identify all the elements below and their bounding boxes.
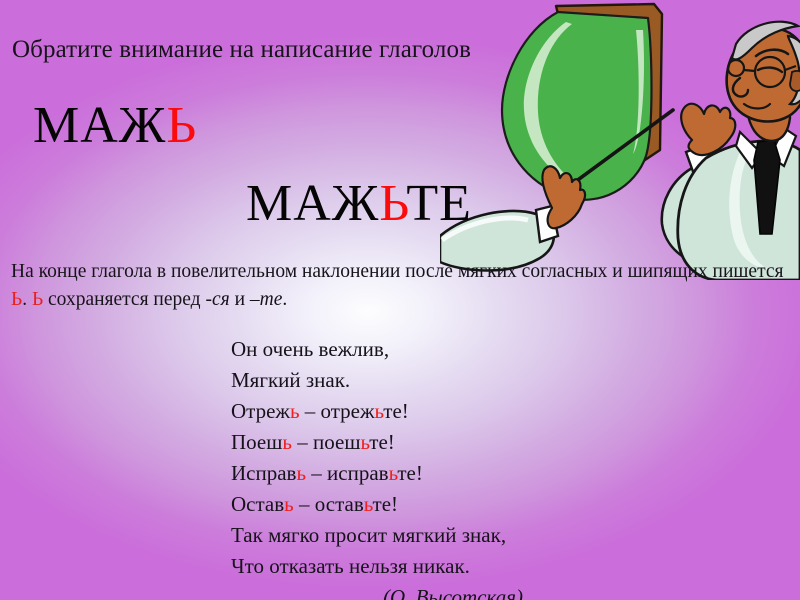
slide-canvas: Обратите внимание на написание глаголов … [0,0,800,600]
soft-sign-highlight: ь [375,399,384,423]
word-stem: МАЖ [33,97,166,154]
rule-part-3: сохраняется перед [43,289,205,310]
necktie [754,140,780,234]
poem-line: Он очень вежлив, [231,334,523,365]
soft-sign-highlight: ь [282,430,292,454]
right-sleeve [662,162,800,270]
soft-sign-capital-1: Ь [11,289,22,310]
line-text: те! [397,461,423,485]
rule-part-4: и [230,289,250,310]
soft-sign-highlight: ь [290,399,300,423]
left-hand [542,166,585,228]
line-text: Что отказать нельзя никак. [231,554,470,578]
line-text: – остав [294,492,364,516]
rule-part-5: . [282,289,287,310]
line-text: Остав [231,492,284,516]
hair [732,22,798,60]
poem-line: Оставь – оставьте! [231,489,523,520]
line-text: те! [369,430,395,454]
line-text: – исправ [306,461,389,485]
line-text: Отреж [231,399,290,423]
example-word-mazh: МАЖЬ [33,100,197,152]
chalkboard-icon [502,4,662,200]
poem-line: Так мягко просит мягкий знак, [231,520,523,551]
line-text: те! [373,492,399,516]
poem-author: (О. Высотская) [231,582,523,600]
soft-sign-highlight: Ь [379,175,406,232]
line-text: Он очень вежлив, [231,337,389,361]
right-hand [681,104,735,155]
poem-line: Отрежь – отрежьте! [231,396,523,427]
poem-block: Он очень вежлив, Мягкий знак. Отрежь – о… [231,334,523,600]
line-text: те! [383,399,409,423]
spelling-rule-text: На конце глагола в повелительном наклоне… [11,258,789,313]
line-text: Так мягко просит мягкий знак, [231,523,506,547]
poem-line: Исправь – исправьте! [231,458,523,489]
soft-sign-capital-2: Ь [32,289,43,310]
teacher-illustration [440,0,800,280]
line-text: – отреж [300,399,375,423]
line-text: Мягкий знак. [231,368,350,392]
line-text: Поеш [231,430,282,454]
rule-italic-sya: -ся [205,289,229,310]
rule-part-1: На конце глагола в повелительном наклоне… [11,261,783,282]
line-text: – поеш [292,430,361,454]
word-suffix: ТЕ [406,175,472,232]
rule-italic-te: –те [250,289,283,310]
poem-line: Мягкий знак. [231,365,523,396]
eyeglasses-icon [728,57,796,87]
soft-sign-highlight: ь [296,461,306,485]
line-text: Исправ [231,461,296,485]
page-title: Обратите внимание на написание глаголов [12,36,471,64]
soft-sign-highlight: ь [284,492,294,516]
example-word-mazhte: МАЖЬТЕ [246,178,472,230]
head [727,29,800,122]
rule-part-2: . [22,289,32,310]
pointer-stick-icon [556,110,673,196]
poem-line: Поешь – поешьте! [231,427,523,458]
soft-sign-highlight: ь [364,492,373,516]
poem-line: Что отказать нельзя никак. [231,551,523,582]
soft-sign-highlight: ь [361,430,370,454]
soft-sign-highlight: Ь [166,97,197,154]
word-stem: МАЖ [246,175,379,232]
